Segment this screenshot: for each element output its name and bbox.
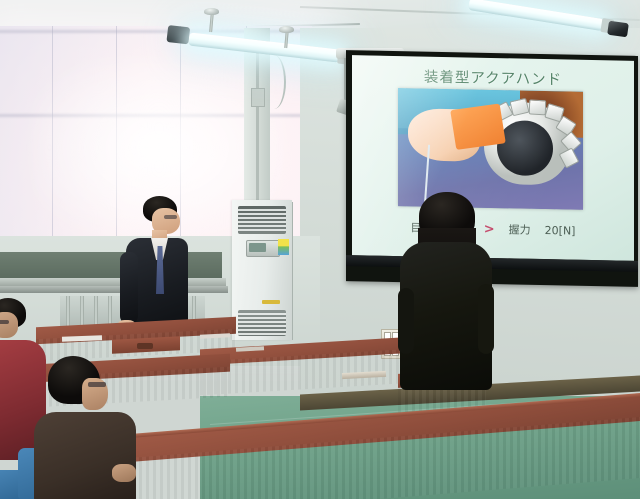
audience-2-jacket [34,412,136,499]
ac-brand-badge [262,300,280,304]
observer-arm-right [478,284,494,354]
lecture-hall-photo: 装着型アクアハンド 目標 30~ > 握力 20[N] [0,0,640,499]
observer-arm-left [398,288,414,354]
audience-1-glasses-icon [0,320,9,324]
ceiling-speaker [166,25,190,44]
audience-2-glasses-icon [88,382,106,387]
audience-2-hand [112,464,136,482]
electrical-conduit [256,52,259,202]
audience-1-face [0,312,18,338]
ac-energy-label [278,239,289,255]
presenter-arm [120,252,138,324]
light-rod-base-2 [279,26,294,33]
observer-person [398,192,494,390]
ceiling-speaker-right [607,21,629,38]
ac-outlet-grille [238,310,286,336]
audience-member-2 [30,356,140,499]
hanging-wire [262,55,286,109]
light-rod-base [204,8,219,15]
ac-intake-grille [238,206,286,234]
lectern-slot [137,343,153,349]
ac-display [249,243,266,252]
glasses-icon [164,215,177,219]
